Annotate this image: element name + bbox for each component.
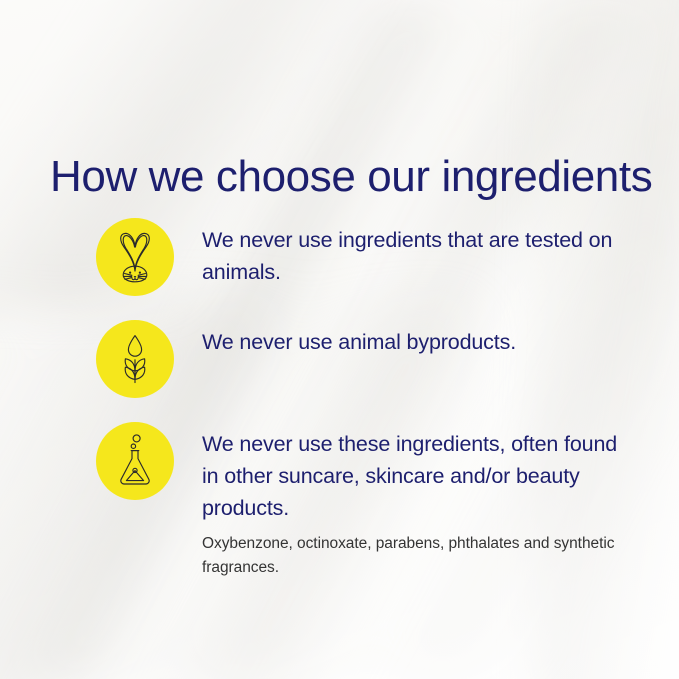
principles-list: We never use ingredients that are tested… <box>96 218 636 580</box>
bunny-heart-ears-icon <box>113 231 157 283</box>
list-item-subtext: Oxybenzone, octinoxate, parabens, phthal… <box>202 532 636 580</box>
list-item-heading: We never use animal byproducts. <box>202 326 636 358</box>
list-item-heading: We never use ingredients that are tested… <box>202 224 636 288</box>
list-item-text: We never use these ingredients, often fo… <box>202 422 636 580</box>
list-item: We never use ingredients that are tested… <box>96 218 636 296</box>
icon-badge <box>96 422 174 500</box>
icon-badge <box>96 218 174 296</box>
list-item-heading: We never use these ingredients, often fo… <box>202 428 636 524</box>
page-title: How we choose our ingredients <box>50 147 652 207</box>
list-item: We never use animal byproducts. <box>96 320 636 398</box>
flask-beaker-icon <box>115 434 155 488</box>
list-item: We never use these ingredients, often fo… <box>96 422 636 580</box>
list-item-text: We never use ingredients that are tested… <box>202 218 636 288</box>
ingredient-principles-panel: How we choose our ingredients <box>0 0 679 679</box>
icon-badge <box>96 320 174 398</box>
plant-leaf-droplet-icon <box>115 334 155 384</box>
list-item-text: We never use animal byproducts. <box>202 320 636 358</box>
